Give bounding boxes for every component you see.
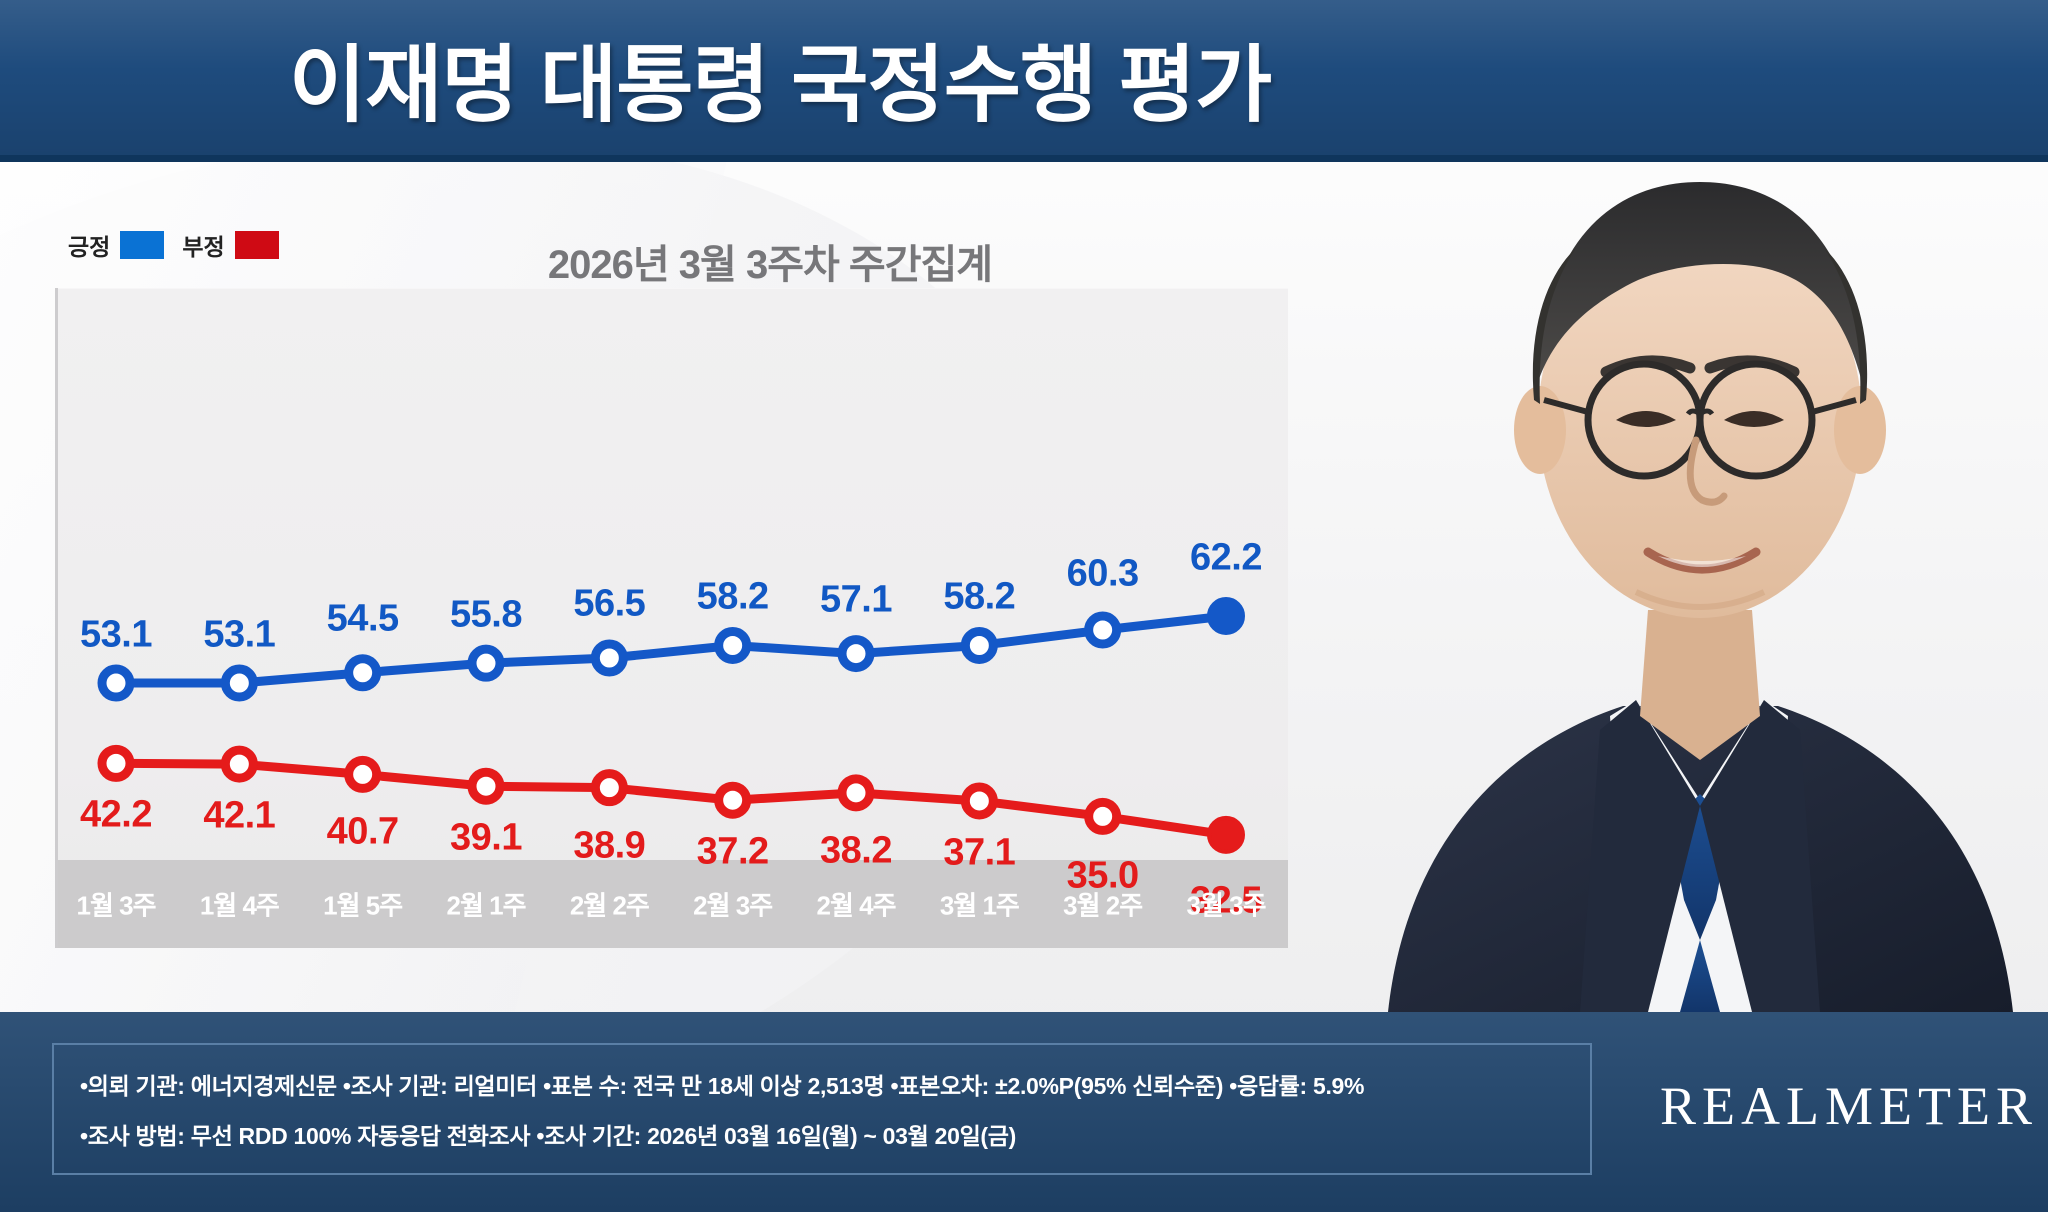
series-line-긍정 <box>116 616 1226 683</box>
data-point-marker[interactable] <box>225 669 253 697</box>
data-point-marker[interactable] <box>102 669 130 697</box>
data-point-marker[interactable] <box>349 659 377 687</box>
data-label-긍정-4: 56.5 <box>573 583 645 626</box>
data-point-marker[interactable] <box>1089 802 1117 830</box>
methodology-box: •의뢰 기관: 에너지경제신문 •조사 기관: 리얼미터 •표본 수: 전국 만… <box>52 1043 1592 1175</box>
x-axis-label-4: 2월 2주 <box>570 886 649 923</box>
legend-label-positive: 긍정 <box>68 228 110 262</box>
legend-label-negative: 부정 <box>182 228 224 262</box>
x-axis-label-8: 3월 2주 <box>1063 886 1142 923</box>
data-point-marker[interactable] <box>719 631 747 659</box>
data-point-marker[interactable] <box>595 774 623 802</box>
data-point-marker[interactable] <box>842 779 870 807</box>
data-point-marker[interactable] <box>842 640 870 668</box>
data-point-marker[interactable] <box>965 631 993 659</box>
legend-item-positive[interactable]: 긍정 <box>68 228 164 262</box>
x-axis-label-9: 3월 3주 <box>1187 886 1266 923</box>
data-label-긍정-9: 62.2 <box>1190 537 1262 580</box>
data-label-긍정-7: 58.2 <box>943 576 1015 619</box>
x-axis-label-5: 2월 3주 <box>693 886 772 923</box>
legend-swatch-negative <box>235 231 279 259</box>
data-point-marker[interactable] <box>225 750 253 778</box>
data-label-긍정-1: 53.1 <box>203 614 275 657</box>
data-label-부정-0: 42.2 <box>80 794 152 837</box>
data-point-marker[interactable] <box>719 786 747 814</box>
x-axis-label-2: 1월 5주 <box>323 886 402 923</box>
data-point-marker[interactable] <box>1209 818 1243 852</box>
data-label-부정-6: 38.2 <box>820 829 892 872</box>
chart-plot-area: 53.153.154.555.856.558.257.158.260.362.2… <box>58 288 1288 948</box>
data-label-긍정-6: 57.1 <box>820 578 892 621</box>
data-point-marker[interactable] <box>1089 616 1117 644</box>
president-portrait <box>1348 0 2048 1012</box>
data-point-marker[interactable] <box>472 772 500 800</box>
data-point-marker[interactable] <box>349 760 377 788</box>
realmeter-logo: REALMETER <box>1660 1075 2000 1137</box>
poll-infographic: 이재명 대통령 국정수행 평가 긍정 부정 2026년 3월 3주차 주간집계 … <box>0 0 2048 1212</box>
data-point-marker[interactable] <box>102 749 130 777</box>
data-label-긍정-5: 58.2 <box>697 576 769 619</box>
x-axis-label-1: 1월 4주 <box>200 886 279 923</box>
data-label-긍정-0: 53.1 <box>80 614 152 657</box>
data-label-부정-7: 37.1 <box>943 831 1015 874</box>
chart-panel: 53.153.154.555.856.558.257.158.260.362.2… <box>55 288 1288 948</box>
series-line-부정 <box>116 763 1226 834</box>
data-point-marker[interactable] <box>1209 599 1243 633</box>
x-axis-label-0: 1월 3주 <box>77 886 156 923</box>
data-point-marker[interactable] <box>965 787 993 815</box>
data-label-부정-3: 39.1 <box>450 817 522 860</box>
data-label-부정-1: 42.1 <box>203 795 275 838</box>
legend-item-negative[interactable]: 부정 <box>182 228 278 262</box>
data-point-marker[interactable] <box>595 644 623 672</box>
methodology-line-2: •조사 방법: 무선 RDD 100% 자동응답 전화조사 •조사 기간: 20… <box>80 1117 1564 1151</box>
chart-legend: 긍정 부정 <box>68 228 279 262</box>
data-label-긍정-3: 55.8 <box>450 594 522 637</box>
x-axis-label-3: 2월 1주 <box>447 886 526 923</box>
data-label-긍정-2: 54.5 <box>327 597 399 640</box>
x-axis-label-7: 3월 1주 <box>940 886 1019 923</box>
methodology-line-1: •의뢰 기관: 에너지경제신문 •조사 기관: 리얼미터 •표본 수: 전국 만… <box>80 1067 1564 1101</box>
data-point-marker[interactable] <box>472 649 500 677</box>
portrait-illustration <box>1348 0 2048 1012</box>
data-label-긍정-8: 60.3 <box>1067 553 1139 596</box>
legend-swatch-positive <box>120 231 164 259</box>
chart-subtitle: 2026년 3월 3주차 주간집계 <box>470 232 1070 290</box>
data-label-부정-4: 38.9 <box>573 824 645 867</box>
page-title: 이재명 대통령 국정수행 평가 <box>0 8 1560 148</box>
data-label-부정-2: 40.7 <box>327 811 399 854</box>
x-axis-label-6: 2월 4주 <box>817 886 896 923</box>
data-label-부정-5: 37.2 <box>697 831 769 874</box>
